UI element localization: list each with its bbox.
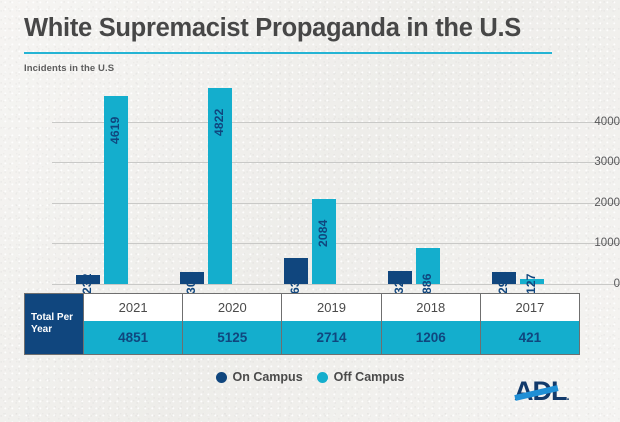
- bar-value-label: 886: [420, 273, 434, 294]
- totals-table-columns: 202148512020512520192714201812062017421: [83, 294, 579, 354]
- page-title: White Supremacist Propaganda in the U.S: [24, 14, 521, 43]
- chart-subtitle: Incidents in the U.S: [24, 63, 114, 74]
- bar-value-label: 4619: [108, 117, 122, 145]
- legend-dot-icon: [216, 372, 227, 383]
- table-cell-year: 2020: [183, 294, 281, 321]
- totals-table-column: 20192714: [281, 294, 380, 354]
- bar-value-label: 2084: [316, 220, 330, 248]
- totals-table-column: 20214851: [83, 294, 182, 354]
- bar-value-label: 320: [392, 273, 406, 294]
- bar-value-label: 232: [80, 273, 94, 294]
- totals-row-label: Total Per Year: [25, 294, 83, 354]
- adl-logo[interactable]: ADL.: [514, 376, 598, 408]
- chart-bars-layer: 232461930348226302084320886294127: [0, 84, 620, 286]
- bar-value-label: 127: [524, 273, 538, 294]
- chart-plot-area: 01000200030004000 2324619303482263020843…: [0, 84, 620, 286]
- legend-item[interactable]: Off Campus: [317, 370, 405, 384]
- table-cell-total: 1206: [382, 321, 480, 354]
- table-cell-year: 2021: [84, 294, 182, 321]
- table-cell-total: 421: [481, 321, 579, 354]
- table-cell-total: 2714: [282, 321, 380, 354]
- bar-value-label: 4822: [212, 109, 226, 137]
- bar-value-label: 303: [184, 273, 198, 294]
- totals-table-column: 20181206: [381, 294, 480, 354]
- table-cell-total: 5125: [183, 321, 281, 354]
- legend-dot-icon: [317, 372, 328, 383]
- bar-value-label: 294: [496, 273, 510, 294]
- totals-table-column: 2017421: [480, 294, 579, 354]
- table-cell-year: 2019: [282, 294, 380, 321]
- legend-label: Off Campus: [334, 370, 405, 384]
- table-cell-year: 2018: [382, 294, 480, 321]
- bar-value-label: 630: [288, 273, 302, 294]
- totals-table-column: 20205125: [182, 294, 281, 354]
- totals-table: Total Per Year 2021485120205125201927142…: [24, 293, 580, 355]
- legend-label: On Campus: [233, 370, 303, 384]
- infographic-canvas: White Supremacist Propaganda in the U.S …: [0, 0, 620, 422]
- registered-dot-icon: .: [567, 391, 569, 403]
- legend-item[interactable]: On Campus: [216, 370, 303, 384]
- table-cell-year: 2017: [481, 294, 579, 321]
- table-cell-total: 4851: [84, 321, 182, 354]
- title-underline-rule: [24, 52, 552, 54]
